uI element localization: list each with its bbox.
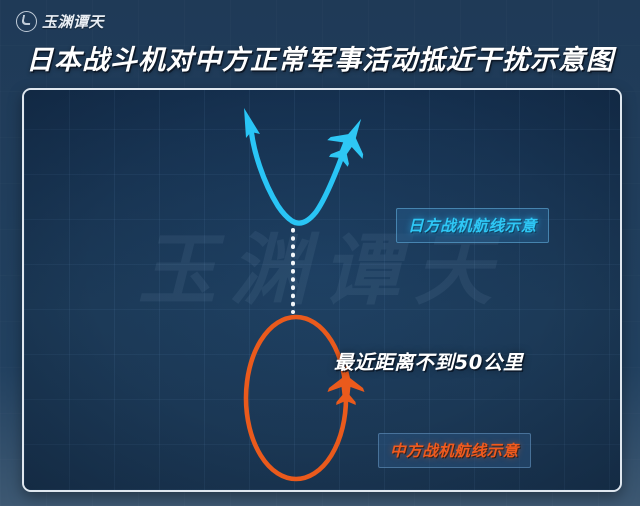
header: 玉渊谭天 日本战斗机对中方正常军事活动抵近干扰示意图 bbox=[0, 0, 640, 86]
distance-annotation: 最近距离不到50公里 bbox=[334, 346, 523, 375]
infographic-root: 玉渊谭天 日本战斗机对中方正常军事活动抵近干扰示意图 玉渊谭天 bbox=[0, 0, 640, 506]
china-flight-path bbox=[246, 317, 346, 479]
japan-flight-path bbox=[244, 108, 348, 260]
diagram-panel: 玉渊谭天 bbox=[22, 88, 622, 492]
label-japan-route: 日方战机航线示意 bbox=[396, 208, 549, 243]
brand-logo-text: 玉渊谭天 bbox=[42, 11, 104, 32]
flight-path-diagram bbox=[24, 90, 620, 490]
brand-logo: 玉渊谭天 bbox=[16, 10, 104, 32]
page-title: 日本战斗机对中方正常军事活动抵近干扰示意图 bbox=[0, 38, 640, 77]
japan-path-left-leg bbox=[251, 128, 292, 221]
fighter-jet-icon-japan bbox=[320, 110, 379, 174]
label-china-route: 中方战机航线示意 bbox=[378, 433, 531, 468]
china-orbit-ellipse bbox=[246, 317, 346, 479]
circle-quote-mark-icon bbox=[16, 11, 37, 32]
